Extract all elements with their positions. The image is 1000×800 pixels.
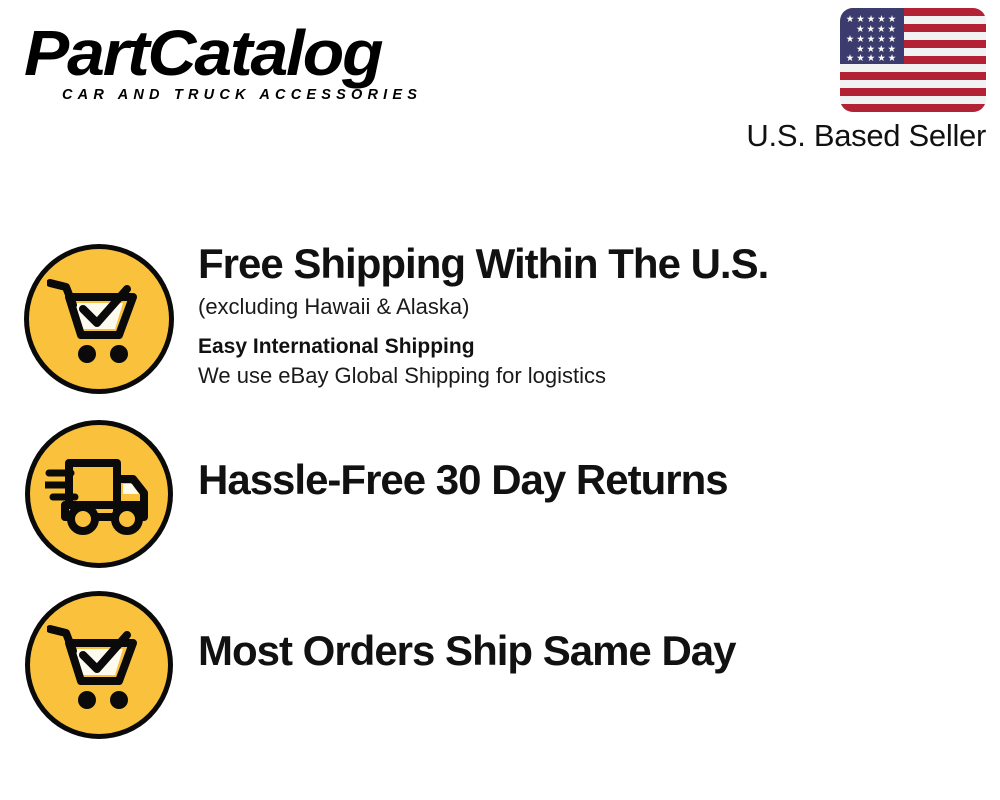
flag-stripe bbox=[840, 104, 986, 112]
flag-stripe bbox=[840, 88, 986, 96]
feature-text: Hassle-Free 30 Day Returns bbox=[198, 414, 1000, 503]
shopping-cart-check-icon bbox=[47, 615, 151, 715]
flag-stripe bbox=[840, 96, 986, 104]
brand-logo[interactable]: PartCatalog CAR AND TRUCK ACCESSORIES bbox=[24, 22, 494, 103]
feature-icon-wrap bbox=[0, 585, 198, 739]
feature-icon-badge bbox=[25, 591, 173, 739]
feature-icon-badge bbox=[25, 420, 173, 568]
seller-badge: ★★★★★ ★★★★ ★★★★★ ★★★★ ★★★★★ U.S. Based S… bbox=[716, 8, 986, 154]
feature-text: Most Orders Ship Same Day bbox=[198, 585, 1000, 674]
feature-icon-badge bbox=[24, 244, 174, 394]
flag-canton: ★★★★★ ★★★★ ★★★★★ ★★★★ ★★★★★ bbox=[840, 8, 904, 64]
feature-subtitle-last: We use eBay Global Shipping for logistic… bbox=[198, 362, 1000, 390]
page-header: PartCatalog CAR AND TRUCK ACCESSORIES ★★… bbox=[0, 0, 1000, 170]
brand-wordmark: PartCatalog bbox=[24, 22, 522, 85]
feature-title: Hassle-Free 30 Day Returns bbox=[198, 458, 1000, 503]
feature-text: Free Shipping Within The U.S. (excluding… bbox=[198, 238, 1000, 390]
flag-star-row: ★★★★★ bbox=[840, 54, 904, 64]
feature-title: Most Orders Ship Same Day bbox=[198, 629, 1000, 674]
feature-row: Hassle-Free 30 Day Returns bbox=[0, 414, 1000, 574]
seller-label: U.S. Based Seller bbox=[716, 118, 986, 154]
feature-icon-wrap bbox=[0, 238, 198, 394]
flag-stripe bbox=[840, 72, 986, 80]
feature-title: Free Shipping Within The U.S. bbox=[198, 242, 1000, 287]
flag-stripe bbox=[840, 64, 986, 72]
flag-stripe bbox=[840, 80, 986, 88]
feature-row: Free Shipping Within The U.S. (excluding… bbox=[0, 238, 1000, 408]
feature-icon-wrap bbox=[0, 414, 198, 568]
brand-tagline: CAR AND TRUCK ACCESSORIES bbox=[62, 87, 494, 103]
feature-subtitle: (excluding Hawaii & Alaska) bbox=[198, 294, 1000, 320]
delivery-truck-icon bbox=[45, 451, 153, 537]
feature-row: Most Orders Ship Same Day bbox=[0, 585, 1000, 745]
shopping-cart-check-icon bbox=[47, 269, 151, 369]
us-flag-icon: ★★★★★ ★★★★ ★★★★★ ★★★★ ★★★★★ bbox=[840, 8, 986, 112]
feature-subtitle-strong: Easy International Shipping bbox=[198, 334, 1000, 359]
